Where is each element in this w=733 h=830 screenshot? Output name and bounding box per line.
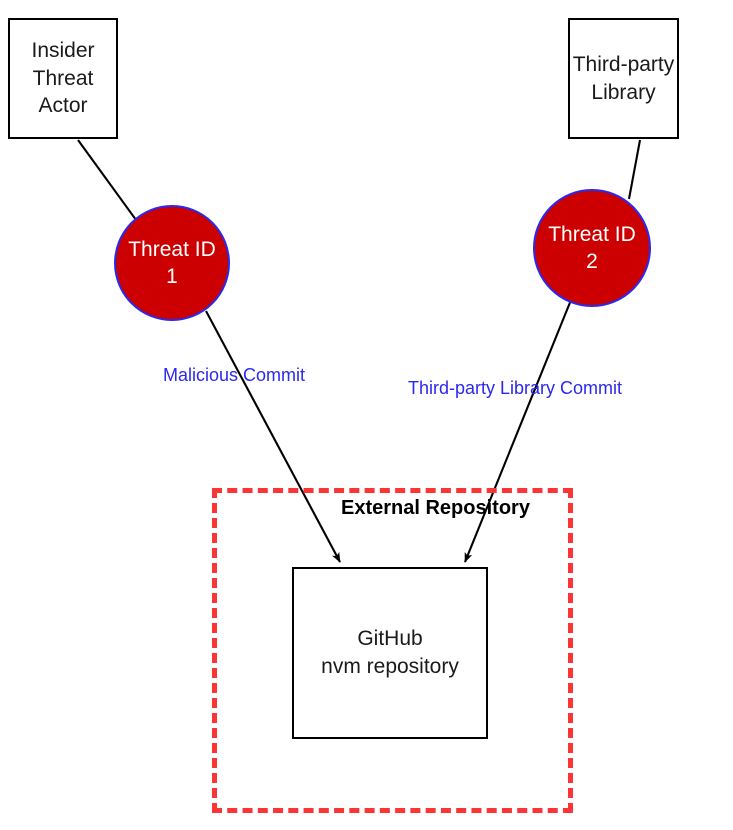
node-insider-threat-actor[interactable]: Insider Threat Actor	[8, 18, 118, 139]
diagram-canvas: External Repository Insider Threat Actor…	[0, 0, 733, 830]
node-label-github-nvm-repository: GitHub nvm repository	[321, 625, 459, 680]
node-threat-id-2[interactable]: Threat ID 2	[533, 189, 651, 307]
node-github-nvm-repository[interactable]: GitHub nvm repository	[292, 567, 488, 739]
node-label-insider-threat-actor: Insider Threat Actor	[10, 37, 116, 120]
node-threat-id-1[interactable]: Threat ID 1	[114, 205, 230, 321]
edge-library-to-threat2	[629, 140, 640, 199]
node-third-party-library[interactable]: Third-party Library	[568, 18, 679, 139]
node-label-threat-id-1: Threat ID 1	[128, 236, 216, 291]
node-label-threat-id-2: Threat ID 2	[548, 221, 636, 276]
edge-label-third-party-library-commit: Third-party Library Commit	[408, 378, 622, 399]
node-label-third-party-library: Third-party Library	[573, 51, 675, 106]
boundary-label-external-repository: External Repository	[341, 497, 530, 520]
edge-insider-to-threat1	[78, 140, 139, 224]
edge-label-malicious-commit: Malicious Commit	[163, 365, 305, 386]
